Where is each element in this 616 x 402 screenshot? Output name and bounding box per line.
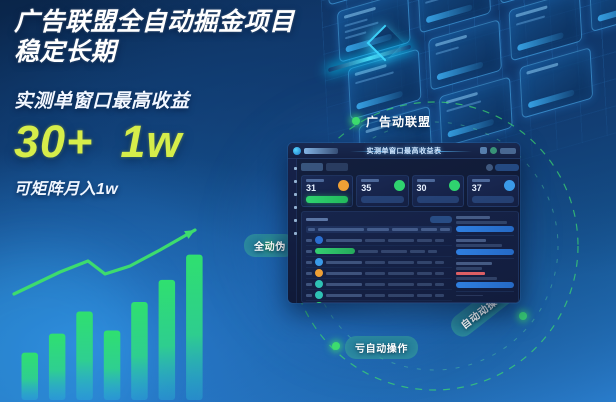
row-account-name [326,272,362,275]
side-card-title [456,262,492,265]
side-card-alert [456,272,485,275]
page-title-line2: 稳定长期 [14,38,414,66]
row-amount [388,261,414,264]
table-row[interactable] [306,257,452,268]
headline-block: 广告联盟全自动掘金项目 稳定长期 实测单窗口最高收益 30+ 1w 可矩阵月入1… [14,8,414,199]
expand-icon[interactable] [480,147,487,154]
row-amount [388,294,414,297]
side-card-button[interactable] [456,226,514,232]
toolbar-right[interactable] [486,164,519,171]
chart-bar [22,353,39,400]
page-title-line1: 广告联盟全自动掘金项目 [14,8,414,36]
row-time [417,294,432,297]
row-amount [381,250,407,253]
row-actions[interactable] [435,261,444,264]
refresh-button[interactable] [495,164,519,171]
row-checkbox[interactable] [306,272,312,275]
side-panel-card[interactable] [456,239,514,259]
row-avatar [315,291,323,299]
row-checkbox[interactable] [306,250,312,253]
user-avatar[interactable] [500,148,516,154]
row-status [365,261,385,264]
kpi-badge [449,180,460,191]
side-card-sub [456,244,502,247]
side-panel-card[interactable] [456,262,514,292]
row-avatar [315,258,323,266]
kpi-action-button[interactable] [472,196,514,203]
table-section-title [306,218,328,221]
table-header-row [306,216,452,223]
side-panel-card[interactable] [456,216,514,236]
table-body [306,235,452,303]
side-card-title [456,239,486,242]
side-card-sub [456,221,507,224]
table-side-panel [456,216,514,298]
kpi-caption [472,179,490,182]
row-actions[interactable] [428,250,437,253]
chart-bar [49,334,66,400]
chart-bar [186,255,203,400]
table-column-headers [306,226,452,233]
side-card-sub [456,267,482,270]
side-panel-footer[interactable] [456,295,483,296]
side-card-button[interactable] [456,282,514,288]
row-amount [388,239,414,242]
tagline: 可矩阵月入1w [14,175,414,199]
row-time [417,239,432,242]
row-status [365,283,385,286]
chart-bar [76,312,93,401]
chart-bar [159,280,176,400]
orbit-node-dot-right [519,312,527,320]
table-row[interactable] [306,235,452,246]
table-row[interactable] [306,290,452,301]
row-actions[interactable] [435,283,444,286]
table-row[interactable] [306,268,452,279]
row-checkbox[interactable] [306,239,312,242]
kpi-action-button[interactable] [417,196,459,203]
row-status-pill [315,248,355,254]
table-row[interactable] [306,279,452,290]
row-status [365,272,385,275]
data-table [306,216,452,298]
column-select [308,228,315,231]
row-status [365,239,385,242]
row-avatar [315,302,323,303]
row-avatar [315,236,323,244]
kpi-badge [504,180,515,191]
row-time [417,283,432,286]
row-avatar [315,269,323,277]
highlight-number: 30+ 1w [14,119,414,164]
growth-bar-chart [0,222,250,402]
row-actions[interactable] [435,239,444,242]
column-actions [440,228,450,231]
row-account-name [326,261,362,264]
kpi-card[interactable]: 37 [467,175,519,207]
title-deco-right [438,151,472,152]
table-row[interactable] [306,301,452,303]
column-name [318,228,364,231]
row-amount [388,283,414,286]
row-time [410,250,425,253]
side-card-button[interactable] [456,249,514,255]
chart-bar [104,331,121,401]
row-checkbox[interactable] [306,283,312,286]
settings-icon[interactable] [490,147,497,154]
column-time [421,228,437,231]
row-avatar [315,280,323,288]
row-status [358,250,378,253]
refresh-icon[interactable] [486,164,493,171]
row-account-name [326,294,362,297]
table-row[interactable] [306,246,452,257]
orbit-label-auto-operation: 亏自动操作 [345,336,418,359]
subtitle: 实测单窗口最高收益 [14,86,414,113]
column-status [367,228,389,231]
promo-poster: 广告联盟全自动掘金项目 稳定长期 实测单窗口最高收益 30+ 1w 可矩阵月入1… [0,0,616,402]
kpi-card[interactable]: 30 [412,175,464,207]
side-card-title [456,216,490,219]
row-actions[interactable] [435,294,444,297]
column-amount [392,228,418,231]
orbit-node-dot-bottom [332,342,340,350]
kpi-caption [417,179,435,182]
row-account-name [326,239,362,242]
row-amount [388,272,414,275]
row-status [365,294,385,297]
data-table-card [301,211,519,303]
topbar-actions[interactable] [480,147,516,154]
row-actions[interactable] [435,272,444,275]
side-card-note [456,277,497,280]
chart-bar [131,302,148,400]
row-time [417,272,432,275]
row-time [417,261,432,264]
row-checkbox[interactable] [306,294,312,297]
export-button[interactable] [430,216,452,223]
row-checkbox[interactable] [306,261,312,264]
row-account-name [326,283,362,286]
